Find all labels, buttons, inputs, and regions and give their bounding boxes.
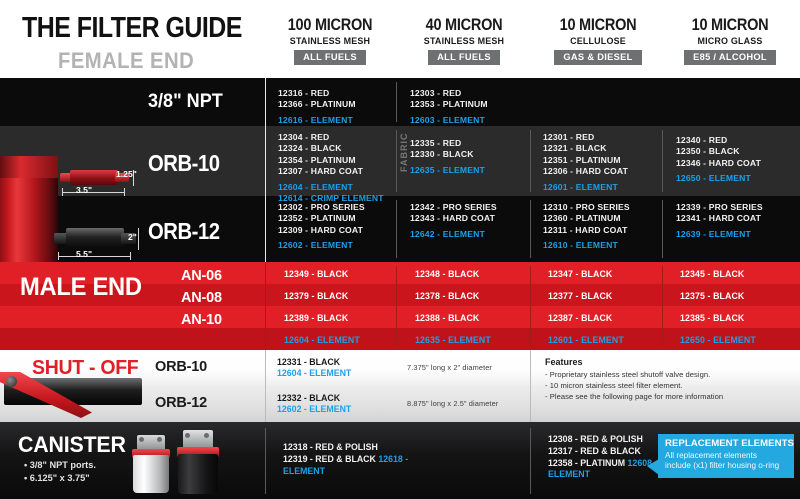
element-part: 12639 - ELEMENT	[676, 229, 751, 239]
element-part: 12610 - ELEMENT	[543, 240, 618, 250]
cell-an06-10micron-cellulose: 12347 - BLACK	[548, 269, 678, 279]
cell-an10-10micron-cellulose: 12387 - BLACK	[548, 313, 678, 323]
cell-shutoff-orb10: 12331 - BLACK 12604 - ELEMENT	[277, 357, 351, 379]
element-part-100micron: 12604 - ELEMENT	[284, 335, 414, 345]
column-fuel-badge: GAS & DIESEL	[554, 50, 641, 65]
cell-an10-100micron: 12389 - BLACK	[284, 313, 414, 323]
dim-length-orb10: 5.5"	[76, 249, 92, 259]
cell-npt-40micron: 12303 - RED12353 - PLATINUM 12603 - ELEM…	[410, 88, 540, 126]
cell-an08-10micron-microglass: 12375 - BLACK	[680, 291, 800, 301]
part-number: 12331 - BLACK	[277, 357, 351, 368]
section-title-shut-off: SHUT - OFF	[32, 356, 138, 380]
part-list: 12335 - RED12330 - BLACK	[410, 138, 474, 159]
element-part: 12642 - ELEMENT	[410, 229, 485, 239]
dim-line	[58, 256, 130, 257]
row-label-an-10: AN-10	[181, 312, 222, 328]
cell-an06-40micron: 12348 - BLACK	[415, 269, 545, 279]
dim-tick	[62, 188, 63, 196]
dim-tick	[124, 188, 125, 196]
element-part: 12603 - ELEMENT	[410, 115, 485, 125]
part-list: 12316 - RED12366 - PLATINUM	[278, 88, 356, 109]
cell-orb12-40micron: 12342 - PRO SERIES12343 - HARD COAT 1264…	[410, 202, 540, 240]
element-part: 12604 - ELEMENT	[277, 368, 351, 379]
element-part: 12604 - ELEMENT12614 - CRIMP ELEMENT	[278, 182, 384, 203]
column-divider	[265, 350, 266, 386]
column-header-10-micron-micro-glass: 10 MICRON MICRO GLASS E85 / ALCOHOL	[665, 16, 795, 65]
cell-orb12-100micron: 12302 - PRO SERIES12352 - PLATINUM12309 …	[278, 202, 408, 252]
cell-an08-100micron: 12379 - BLACK	[284, 291, 414, 301]
dim-tick	[130, 252, 131, 260]
cell-an06-100micron: 12349 - BLACK	[284, 269, 414, 279]
column-divider	[530, 386, 531, 422]
column-divider	[265, 262, 266, 350]
column-fuel-badge: ALL FUELS	[294, 50, 366, 65]
cell-orb12-10micron-cellulose: 12310 - PRO SERIES12360 - PLATINUM12311 …	[543, 202, 673, 252]
column-micron: 40 MICRON	[407, 16, 521, 35]
element-part-10micron-microglass: 12650 - ELEMENT	[680, 335, 800, 345]
row-label-orb-10: ORB-10	[148, 150, 220, 177]
canister-bullet: • 3/8" NPT ports.	[24, 460, 96, 470]
column-divider	[265, 386, 266, 422]
part-list: 12339 - PRO SERIES12341 - HARD COAT	[676, 202, 763, 223]
cell-canister-100micron: 12318 - RED & POLISH12319 - RED & BLACK …	[283, 442, 423, 477]
cell-an06-10micron-microglass: 12345 - BLACK	[680, 269, 800, 279]
cell-orb10-10micron-microglass: 12340 - RED12350 - BLACK12346 - HARD COA…	[676, 135, 800, 185]
column-divider	[265, 126, 266, 196]
callout-title: REPLACEMENT ELEMENTS	[658, 434, 794, 449]
part-list: 12304 - RED12324 - BLACK12354 - PLATINUM…	[278, 132, 363, 176]
dim-line	[138, 228, 139, 250]
column-material: STAINLESS MESH	[402, 36, 527, 46]
column-divider	[265, 78, 266, 126]
column-material: STAINLESS MESH	[268, 36, 393, 46]
cell-an10-10micron-microglass: 12385 - BLACK	[680, 313, 800, 323]
part-list: 12340 - RED12350 - BLACK12346 - HARD COA…	[676, 135, 761, 168]
replacement-elements-callout: REPLACEMENT ELEMENTS All replacement ele…	[658, 434, 794, 478]
dim-line	[62, 192, 124, 193]
column-micron: 10 MICRON	[541, 16, 655, 35]
element-part-10micron-cellulose: 12601 - ELEMENT	[548, 335, 678, 345]
dim-length-npt: 3.5"	[76, 185, 92, 195]
row-label-an-08: AN-08	[181, 290, 222, 306]
canister-bullet: • 6.125" x 3.75"	[24, 473, 90, 483]
column-divider	[265, 428, 266, 494]
cell-an10-40micron: 12388 - BLACK	[415, 313, 545, 323]
column-header-10-micron-cellulose: 10 MICRON CELLULOSE GAS & DIESEL	[533, 16, 663, 65]
column-micron: 10 MICRON	[673, 16, 787, 35]
page-title: THE FILTER GUIDE	[22, 12, 242, 45]
element-part: 12616 - ELEMENT	[278, 115, 353, 125]
column-material: CELLULOSE	[536, 36, 661, 46]
filter-guide-poster: THE FILTER GUIDE FEMALE END 100 MICRON S…	[0, 0, 800, 499]
dimension-shutoff-orb12: 8.875" long x 2.5" diameter	[407, 399, 498, 408]
feature-item: - Please see the following page for more…	[545, 392, 723, 401]
section-title-male-end: MALE END	[20, 273, 142, 302]
cell-orb10-10micron-cellulose: 12301 - RED12321 - BLACK12351 - PLATINUM…	[543, 132, 673, 193]
part-number: 12332 - BLACK	[277, 393, 351, 404]
column-header-100-micron: 100 MICRON STAINLESS MESH ALL FUELS	[265, 16, 395, 65]
element-part: 12602 - ELEMENT	[277, 404, 351, 415]
cell-an08-40micron: 12378 - BLACK	[415, 291, 545, 301]
cell-npt-100micron: 12316 - RED12366 - PLATINUM 12616 - ELEM…	[278, 88, 408, 126]
element-part: 12601 - ELEMENT	[543, 182, 618, 192]
cell-orb10-40micron: 12335 - RED12330 - BLACK 12635 - ELEMENT	[410, 138, 540, 176]
feature-item: - 10 micron stainless steel filter eleme…	[545, 381, 683, 390]
element-part: 12650 - ELEMENT	[676, 173, 751, 183]
cell-orb12-10micron-microglass: 12339 - PRO SERIES12341 - HARD COAT 1263…	[676, 202, 800, 240]
row-label-3-8-npt: 3/8" NPT	[148, 91, 223, 113]
element-part-40micron: 12635 - ELEMENT	[415, 335, 545, 345]
part-list: 12302 - PRO SERIES12352 - PLATINUM12309 …	[278, 202, 365, 235]
dim-tick	[58, 252, 59, 260]
column-header-40-micron: 40 MICRON STAINLESS MESH ALL FUELS	[399, 16, 529, 65]
dim-diameter-npt: 1.25"	[116, 169, 137, 179]
part-list: 12342 - PRO SERIES12343 - HARD COAT	[410, 202, 497, 223]
header: THE FILTER GUIDE FEMALE END 100 MICRON S…	[0, 0, 800, 78]
cell-orb10-100micron: 12304 - RED12324 - BLACK12354 - PLATINUM…	[278, 132, 408, 204]
row-label-an-06: AN-06	[181, 268, 222, 284]
part-list: 12318 - RED & POLISH12319 - RED & BLACK	[283, 442, 378, 464]
part-list: 12303 - RED12353 - PLATINUM	[410, 88, 488, 109]
section-subtitle-female-end: FEMALE END	[58, 48, 194, 74]
column-material: MICRO GLASS	[668, 36, 793, 46]
row-label-orb-12: ORB-12	[148, 218, 220, 245]
cell-an08-10micron-cellulose: 12377 - BLACK	[548, 291, 678, 301]
dimension-shutoff-orb10: 7.375" long x 2" diameter	[407, 363, 492, 372]
column-fuel-badge: ALL FUELS	[428, 50, 500, 65]
column-divider	[530, 428, 531, 494]
part-list: 12301 - RED12321 - BLACK12351 - PLATINUM…	[543, 132, 628, 176]
section-male-end: 5.5" 2" MALE END AN-06 AN-08 AN-10 12349…	[0, 262, 800, 350]
column-micron: 100 MICRON	[273, 16, 387, 35]
row-label-shutoff-orb-12: ORB-12	[155, 395, 207, 411]
element-part: 12602 - ELEMENT	[278, 240, 353, 250]
callout-body: All replacement elementsinclude (x1) fil…	[658, 449, 794, 472]
row-label-shutoff-orb-10: ORB-10	[155, 359, 207, 375]
cell-shutoff-orb12: 12332 - BLACK 12602 - ELEMENT	[277, 393, 351, 415]
column-divider	[530, 350, 531, 386]
features-title: Features	[545, 357, 583, 367]
column-fuel-badge: E85 / ALCOHOL	[684, 50, 776, 65]
feature-item: - Proprietary stainless steel shutoff va…	[545, 370, 710, 379]
dim-diameter-orb10: 2"	[128, 232, 137, 242]
column-divider	[265, 196, 266, 262]
section-title-canister: CANISTER	[18, 432, 126, 458]
element-part: 12635 - ELEMENT	[410, 165, 485, 175]
part-list: 12310 - PRO SERIES12360 - PLATINUM12311 …	[543, 202, 630, 235]
section-female-end: 3.5" 1.25" 5.5" 2" 7" 2.5" 3/8" NPT ORB-…	[0, 78, 800, 262]
